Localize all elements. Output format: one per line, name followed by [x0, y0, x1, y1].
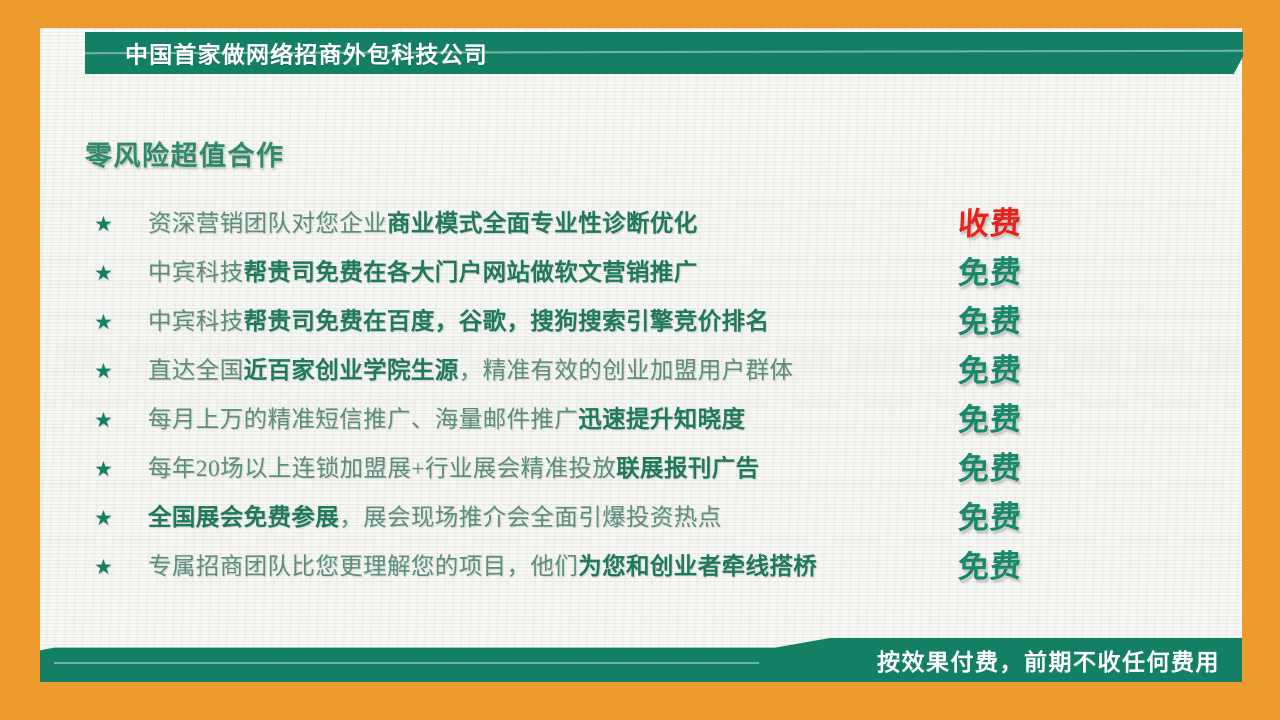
star-bullet-icon: ★ [90, 557, 148, 578]
benefit-text-plain: ，展会现场推介会全面引爆投资热点 [339, 505, 721, 531]
price-badge-free: 免费 [934, 550, 1046, 583]
benefit-text-plain: 中宾科技 [148, 260, 244, 286]
star-bullet-icon: ★ [90, 214, 148, 235]
star-bullet-icon: ★ [90, 410, 148, 431]
price-badge-free: 免费 [934, 452, 1046, 485]
benefit-text-emphasis: 迅速提升知晓度 [578, 407, 745, 433]
price-badge-free: 免费 [934, 501, 1046, 534]
benefit-text-emphasis: 帮贵司免费在各大门户网站做软文营销推广 [244, 260, 698, 286]
footer-band: 按效果付费，前期不收任何费用 [40, 638, 1242, 682]
star-bullet-icon: ★ [90, 459, 148, 480]
star-bullet-icon: ★ [90, 312, 148, 333]
footer-tagline: 按效果付费，前期不收任何费用 [877, 643, 1220, 677]
slide-canvas: 中国首家做网络招商外包科技公司 零风险超值合作 ★资深营销团队对您企业商业模式全… [0, 0, 1280, 720]
header-band: 中国首家做网络招商外包科技公司 [85, 32, 1243, 74]
star-bullet-icon: ★ [90, 263, 148, 284]
benefit-text-emphasis: 联展报刊广告 [616, 456, 759, 482]
benefit-text-plain: 中宾科技 [148, 309, 244, 335]
star-bullet-icon: ★ [90, 508, 148, 529]
section-title: 零风险超值合作 [85, 134, 285, 173]
price-badge-free: 免费 [934, 354, 1046, 387]
price-badge-free: 免费 [934, 305, 1046, 338]
benefit-text-plain: 每月上万的精准短信推广、海量邮件推广 [148, 407, 578, 433]
price-badge-free: 免费 [934, 256, 1046, 289]
benefit-text-emphasis: 全国展会免费参展 [148, 505, 339, 531]
benefit-text-emphasis: 商业模式全面专业性诊断优化 [387, 211, 698, 237]
header-title: 中国首家做网络招商外包科技公司 [125, 35, 488, 69]
benefit-text-emphasis: 为您和创业者牵线搭桥 [578, 554, 817, 580]
price-badge-free: 免费 [934, 403, 1046, 436]
benefit-text-plain: 资深营销团队对您企业 [148, 211, 387, 237]
benefit-text-plain: 专属招商团队比您更理解您的项目，他们 [148, 554, 578, 580]
benefit-text-plain: 每年20场以上连锁加盟展+行业展会精准投放 [148, 456, 616, 482]
benefit-text-emphasis: 近百家创业学院生源 [244, 358, 459, 384]
star-bullet-icon: ★ [90, 361, 148, 382]
benefit-text-emphasis: 帮贵司免费在百度，谷歌，搜狗搜索引擎竞价排名 [244, 309, 770, 335]
footer-accent-line [54, 662, 759, 664]
benefit-text-plain: ，精准有效的创业加盟用户群体 [459, 358, 794, 384]
price-badge-paid: 收费 [934, 207, 1046, 240]
benefit-text-plain: 直达全国 [148, 358, 244, 384]
